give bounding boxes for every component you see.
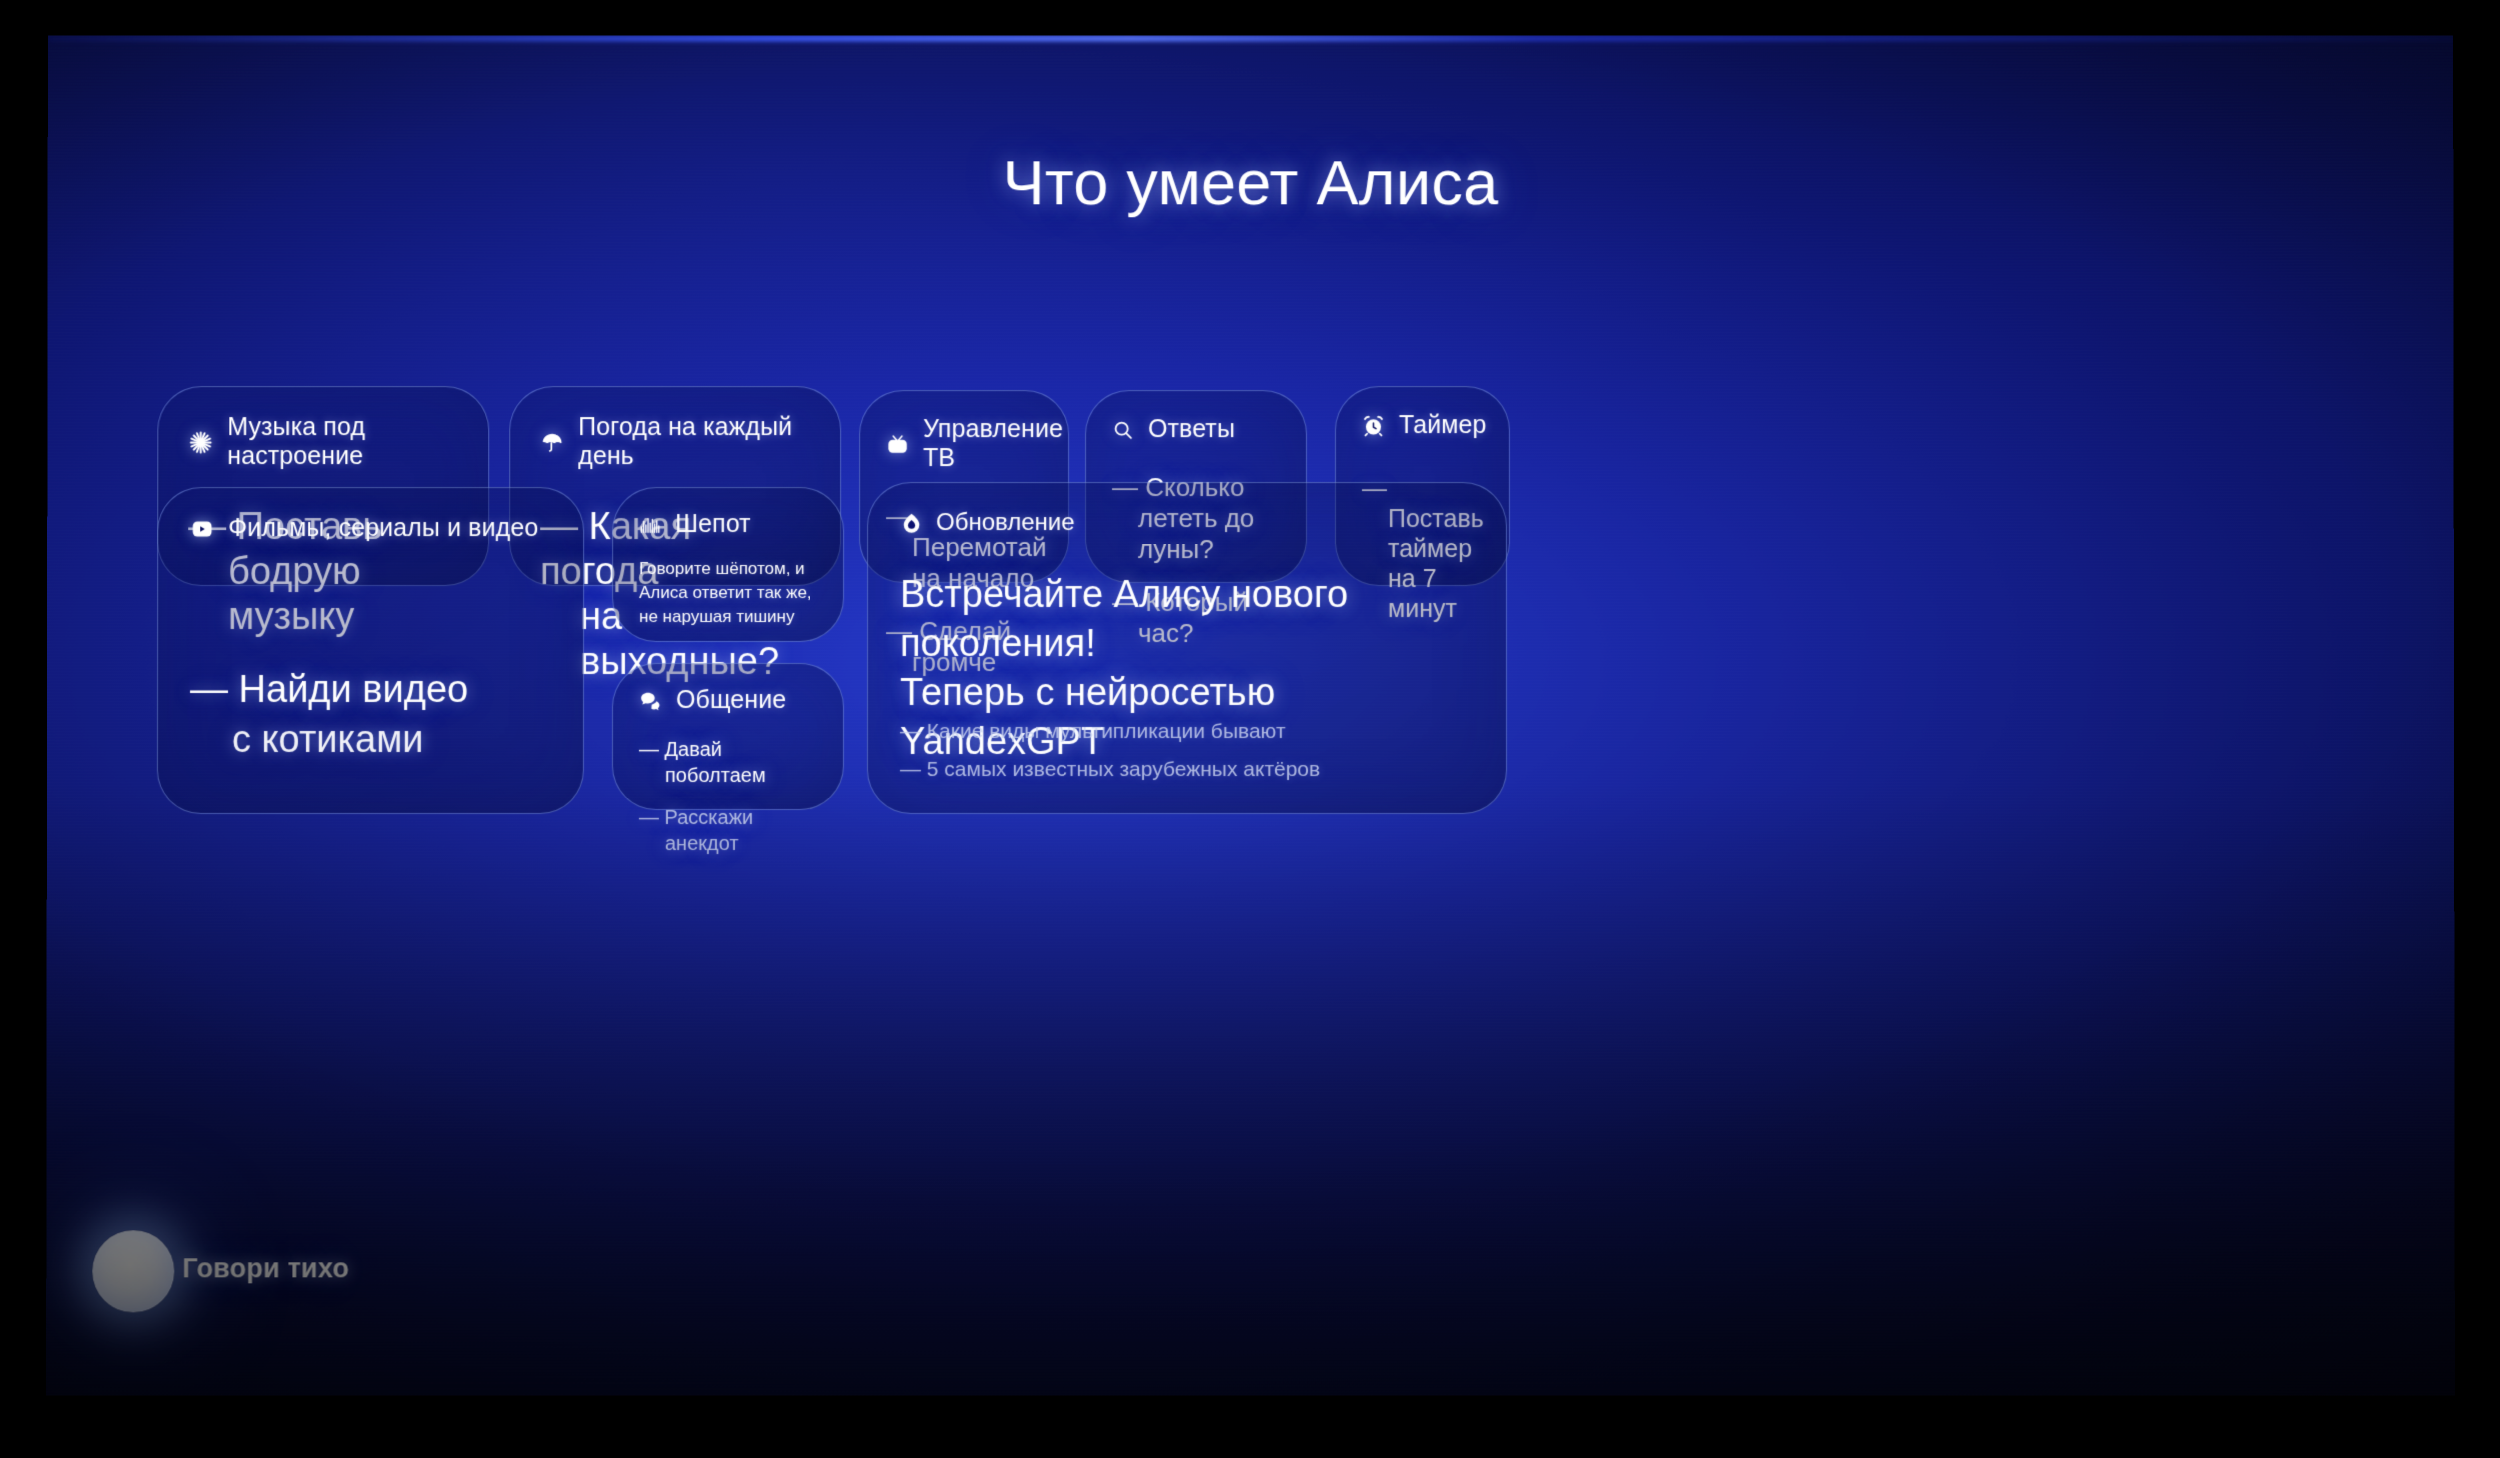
card-music-head: Музыка под настроение — [188, 413, 458, 471]
card-chat-title: Общение — [676, 686, 786, 715]
card-weather-title: Погода на каждый день — [578, 413, 810, 471]
card-whisper-body: Говорите шёпотом, и Алиса ответит так же… — [639, 557, 817, 629]
voice-hint-label: Говори тихо — [182, 1253, 349, 1284]
card-timer-title: Таймер — [1399, 411, 1487, 440]
card-update-suggestion-1[interactable]: — Какие виды мультипликации бывают — [900, 713, 1320, 751]
chat-bubbles-icon — [639, 690, 662, 711]
mic-orb-icon[interactable] — [92, 1230, 174, 1312]
card-update-title: Обновление — [936, 509, 1075, 537]
card-whisper-head: Шепот — [639, 510, 817, 539]
card-whisper-title: Шепот — [675, 510, 751, 539]
card-chat-query-2: — Расскажи анекдот — [639, 805, 817, 857]
card-update-suggestion-2[interactable]: — 5 самых известных зарубежных актёров — [900, 751, 1320, 789]
search-icon — [1112, 419, 1134, 441]
card-chat[interactable]: Общение — Давай поболтаем — Расскажи ане… — [612, 663, 844, 810]
card-music-title: Музыка под настроение — [227, 413, 458, 471]
card-video-line-2: с котиками — [190, 715, 468, 765]
tv-icon — [886, 433, 909, 456]
alice-screen: Что умеет Алиса — [46, 36, 2455, 1396]
panel-top-glow — [48, 36, 2453, 42]
page-title: Что умеет Алиса — [48, 147, 2454, 219]
alarm-clock-icon — [1362, 414, 1385, 437]
card-video-title: Фильмы, сериалы и видео — [228, 514, 538, 543]
tv-frame: Что умеет Алиса — [0, 0, 2500, 1458]
card-tv-title: Управление ТВ — [923, 415, 1063, 473]
card-answers-head: Ответы — [1112, 415, 1280, 444]
card-tv-head: Управление ТВ — [886, 415, 1042, 473]
alice-droplet-icon — [900, 512, 923, 535]
card-video-head: Фильмы, сериалы и видео — [190, 514, 551, 543]
card-whisper[interactable]: Шепот Говорите шёпотом, и Алиса ответит … — [612, 487, 844, 642]
waveform-icon — [639, 515, 661, 535]
card-chat-query-1: — Давай поболтаем — [639, 737, 817, 789]
card-update[interactable]: Обновление Встречайте Алису нового покол… — [867, 482, 1507, 814]
card-video[interactable]: Фильмы, сериалы и видео — Найди видео с … — [157, 487, 584, 814]
umbrella-icon — [540, 430, 564, 454]
card-chat-head: Общение — [639, 686, 817, 715]
play-icon — [190, 517, 214, 541]
card-timer-head: Таймер — [1362, 411, 1483, 440]
card-update-head: Обновление — [900, 509, 1474, 537]
card-update-headline-1: Встречайте Алису нового поколения! — [900, 571, 1474, 669]
card-update-suggestions: — Какие виды мультипликации бывают — 5 с… — [900, 713, 1320, 789]
card-video-line-1: — Найди видео — [190, 665, 468, 715]
sparkle-icon — [188, 430, 213, 455]
card-video-query: — Найди видео с котиками — [190, 665, 468, 765]
card-answers-title: Ответы — [1148, 415, 1235, 444]
card-weather-head: Погода на каждый день — [540, 413, 810, 471]
